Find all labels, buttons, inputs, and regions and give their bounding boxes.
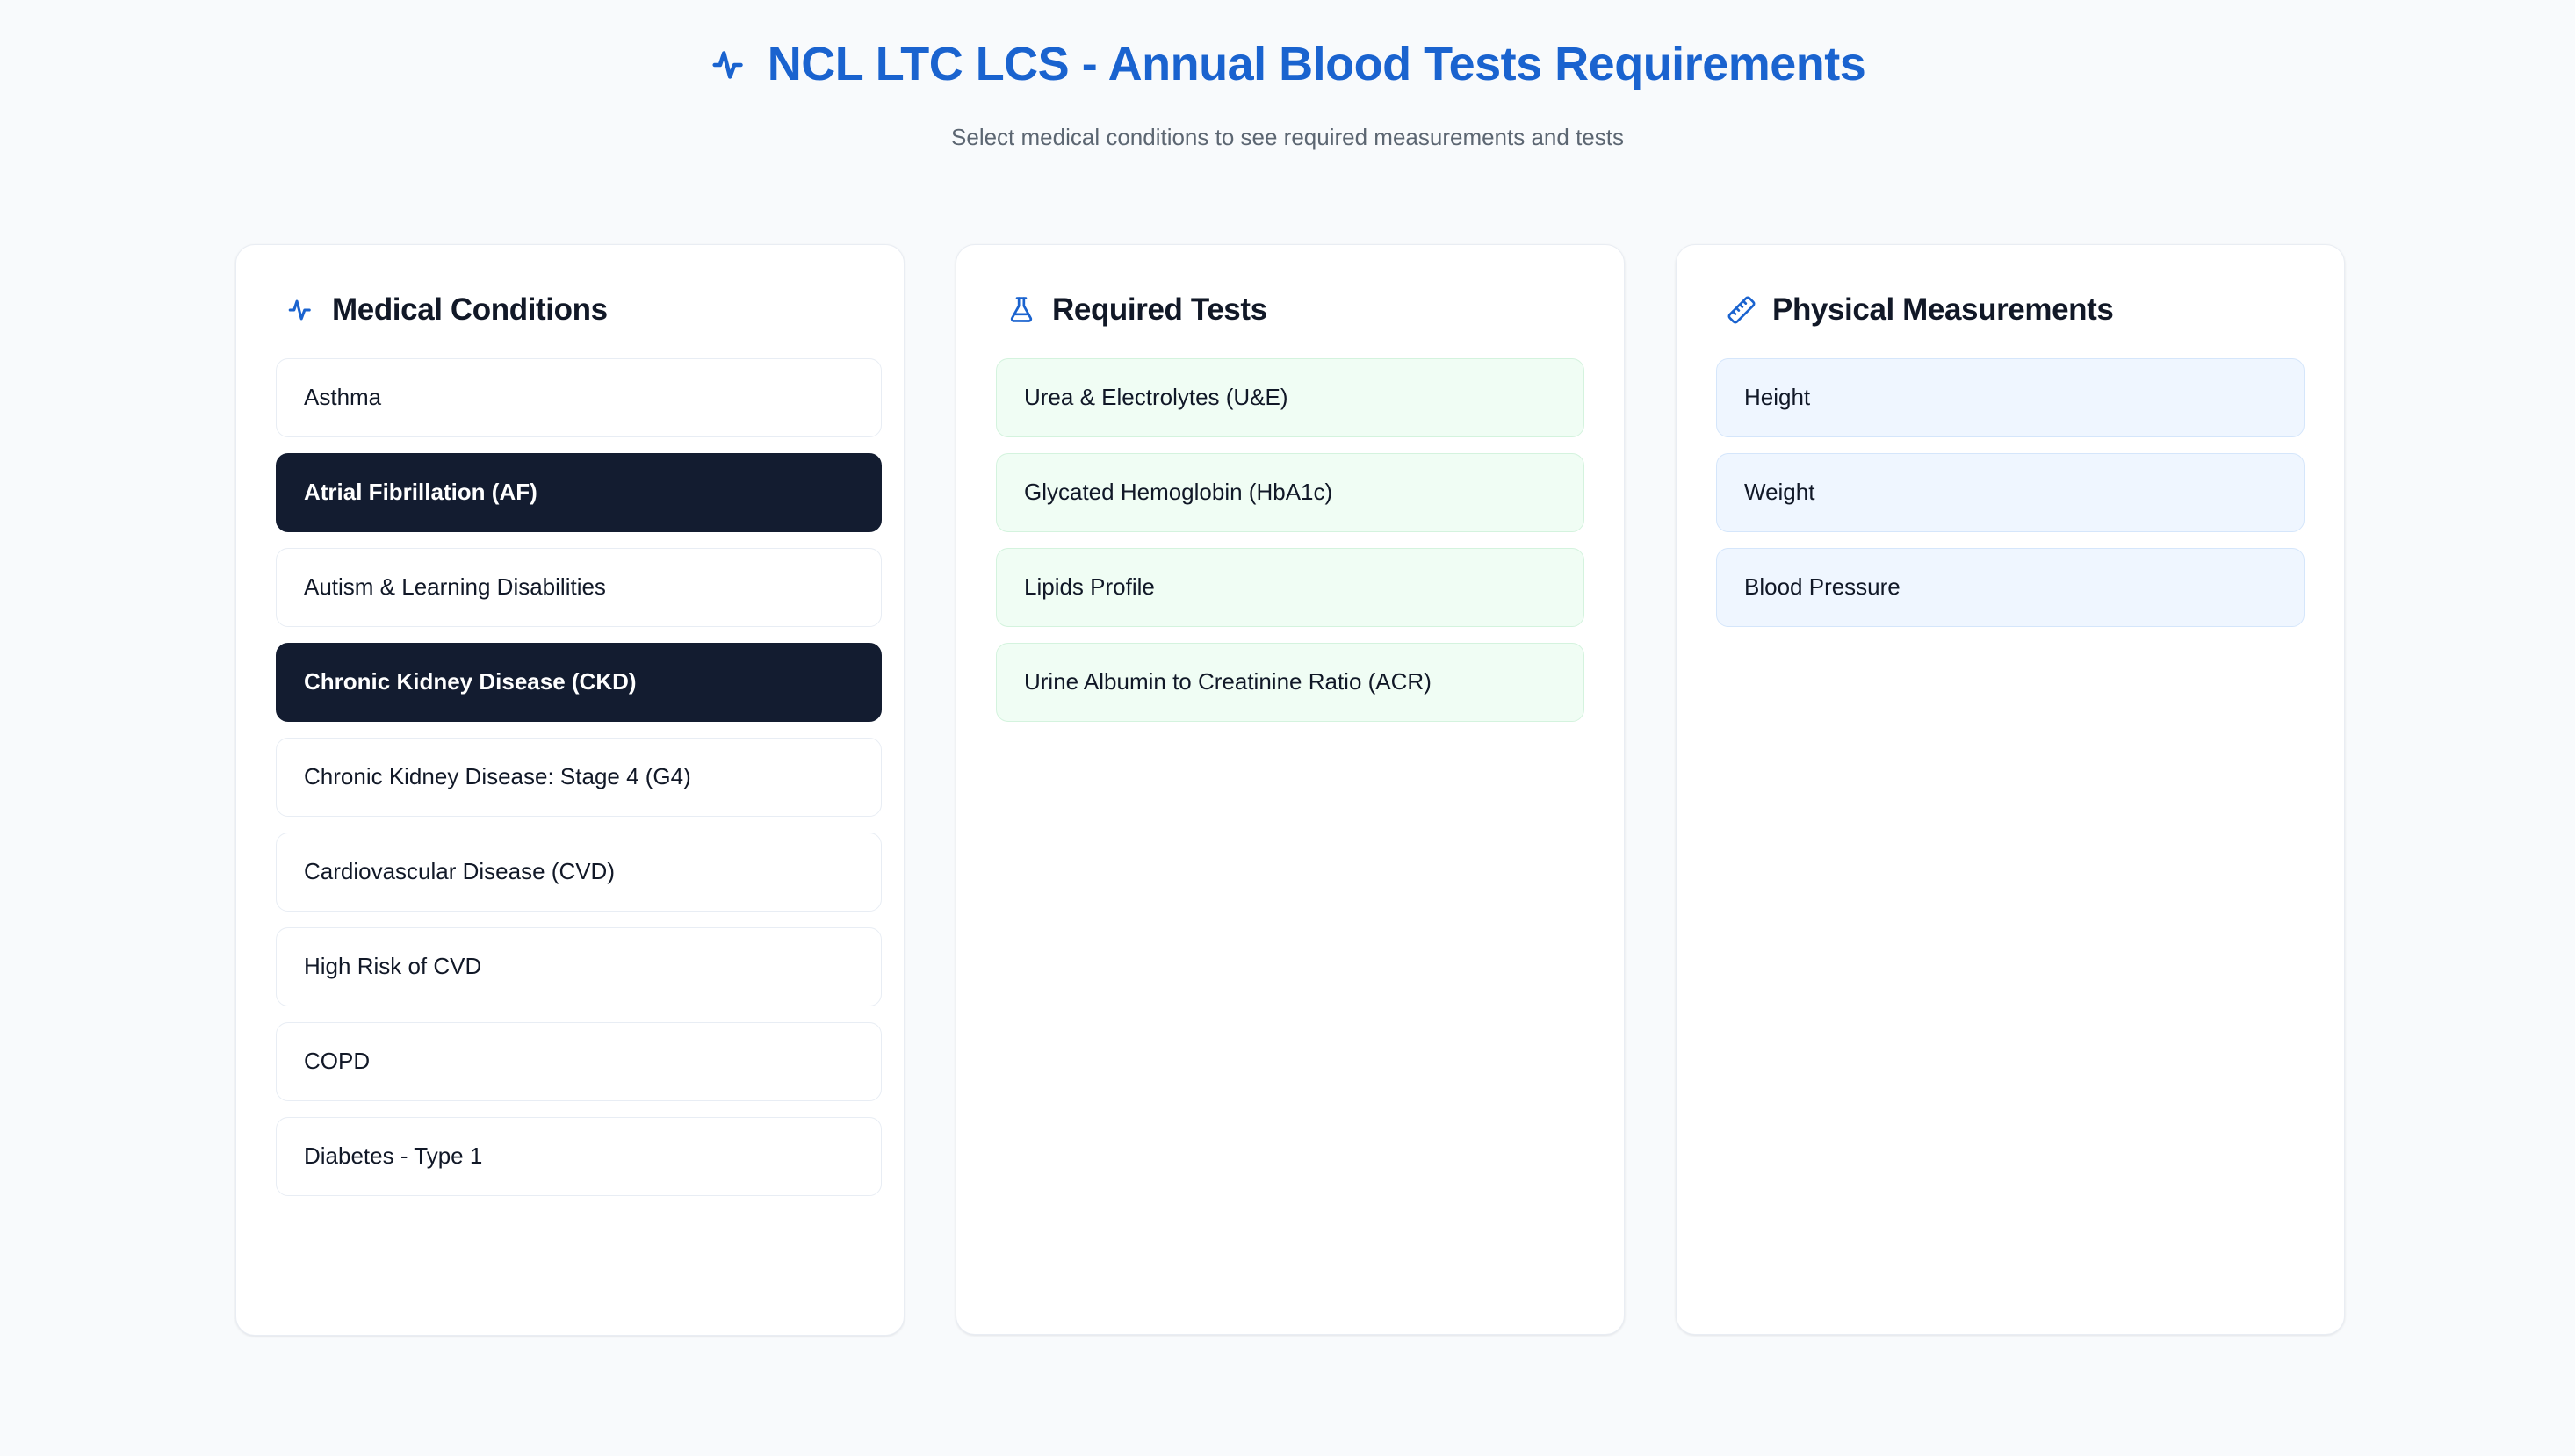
- app-root: NCL LTC LCS - Annual Blood Tests Require…: [0, 0, 2575, 1456]
- ruler-icon: [1727, 295, 1756, 325]
- panel-columns: Medical Conditions Asthma Atrial Fibrill…: [235, 244, 2345, 1336]
- condition-label: High Risk of CVD: [304, 953, 481, 980]
- test-item: Urine Albumin to Creatinine Ratio (ACR): [996, 643, 1584, 722]
- test-item: Glycated Hemoglobin (HbA1c): [996, 453, 1584, 532]
- condition-item[interactable]: Chronic Kidney Disease (CKD): [276, 643, 882, 722]
- condition-label: Atrial Fibrillation (AF): [304, 479, 537, 506]
- condition-item[interactable]: Cardiovascular Disease (CVD): [276, 833, 882, 912]
- panel-title: Physical Measurements: [1772, 293, 2113, 328]
- measurement-label: Height: [1744, 384, 1810, 411]
- flask-icon: [1006, 295, 1036, 325]
- condition-item[interactable]: COPD: [276, 1022, 882, 1101]
- measurement-label: Weight: [1744, 479, 1814, 506]
- physical-measurements-list: Height Weight Blood Pressure: [1677, 358, 2344, 627]
- condition-item[interactable]: Autism & Learning Disabilities: [276, 548, 882, 627]
- condition-label: Asthma: [304, 384, 381, 411]
- condition-label: Cardiovascular Disease (CVD): [304, 858, 615, 885]
- measurement-item: Height: [1716, 358, 2305, 437]
- medical-conditions-header: Medical Conditions: [236, 245, 904, 328]
- condition-label: Chronic Kidney Disease: Stage 4 (G4): [304, 763, 691, 790]
- condition-label: COPD: [304, 1048, 370, 1075]
- condition-item[interactable]: Atrial Fibrillation (AF): [276, 453, 882, 532]
- condition-label: Chronic Kidney Disease (CKD): [304, 668, 637, 696]
- condition-item[interactable]: Asthma: [276, 358, 882, 437]
- medical-conditions-panel: Medical Conditions Asthma Atrial Fibrill…: [235, 244, 905, 1336]
- test-item: Urea & Electrolytes (U&E): [996, 358, 1584, 437]
- page-title-row: NCL LTC LCS - Annual Blood Tests Require…: [0, 39, 2575, 90]
- panel-title: Required Tests: [1052, 293, 1267, 328]
- condition-label: Diabetes - Type 1: [304, 1142, 482, 1170]
- required-tests-list: Urea & Electrolytes (U&E) Glycated Hemog…: [956, 358, 1624, 722]
- test-label: Urea & Electrolytes (U&E): [1024, 384, 1288, 411]
- test-label: Urine Albumin to Creatinine Ratio (ACR): [1024, 668, 1432, 696]
- test-label: Lipids Profile: [1024, 573, 1155, 601]
- test-item: Lipids Profile: [996, 548, 1584, 627]
- required-tests-panel: Required Tests Urea & Electrolytes (U&E)…: [956, 244, 1625, 1335]
- measurement-label: Blood Pressure: [1744, 573, 1901, 601]
- page-header: NCL LTC LCS - Annual Blood Tests Require…: [0, 0, 2575, 151]
- physical-measurements-header: Physical Measurements: [1677, 245, 2344, 328]
- measurement-item: Blood Pressure: [1716, 548, 2305, 627]
- condition-label: Autism & Learning Disabilities: [304, 573, 606, 601]
- measurement-item: Weight: [1716, 453, 2305, 532]
- page-title: NCL LTC LCS - Annual Blood Tests Require…: [768, 39, 1866, 90]
- condition-item[interactable]: Diabetes - Type 1: [276, 1117, 882, 1196]
- activity-pulse-icon: [286, 295, 316, 325]
- physical-measurements-panel: Physical Measurements Height Weight Bloo…: [1676, 244, 2345, 1335]
- page-subtitle: Select medical conditions to see require…: [0, 124, 2575, 151]
- panel-title: Medical Conditions: [332, 293, 608, 328]
- condition-item[interactable]: High Risk of CVD: [276, 927, 882, 1006]
- condition-item[interactable]: Chronic Kidney Disease: Stage 4 (G4): [276, 738, 882, 817]
- activity-pulse-icon: [710, 45, 750, 85]
- required-tests-header: Required Tests: [956, 245, 1624, 328]
- test-label: Glycated Hemoglobin (HbA1c): [1024, 479, 1332, 506]
- medical-conditions-list[interactable]: Asthma Atrial Fibrillation (AF) Autism &…: [236, 358, 842, 1196]
